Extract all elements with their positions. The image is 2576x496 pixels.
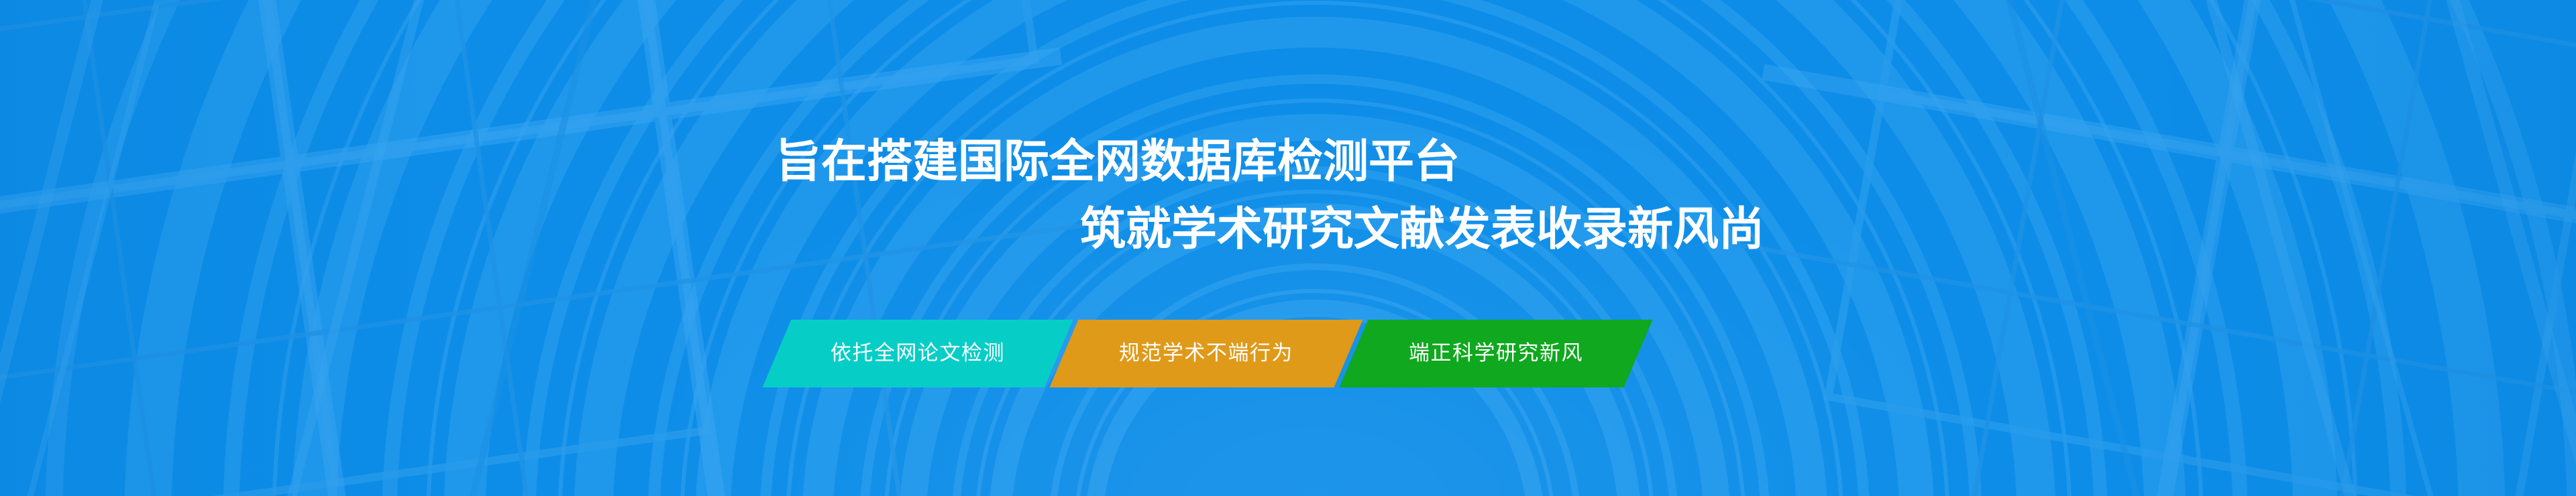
promo-banner: 旨在搭建国际全网数据库检测平台 筑就学术研究文献发表收录新风尚 依托全网论文检测… [0, 0, 2576, 496]
headline-line-1: 旨在搭建国际全网数据库检测平台 [775, 139, 1460, 186]
headline-block: 旨在搭建国际全网数据库检测平台 筑就学术研究文献发表收录新风尚 [0, 0, 2576, 496]
background-grid-left [0, 0, 2576, 496]
tag-paper-detection[interactable]: 依托全网论文检测 [763, 320, 1073, 387]
tag-misconduct-regulation[interactable]: 规范学术不端行为 [1050, 320, 1363, 387]
background-diagonal-streaks [0, 0, 2576, 496]
headline-line-2: 筑就学术研究文献发表收录新风尚 [1080, 206, 1764, 253]
background-vignette [0, 0, 2576, 496]
background-arc-rings [0, 0, 2576, 496]
background-grid-right [0, 0, 2576, 496]
feature-tag-row: 依托全网论文检测 规范学术不端行为 端正科学研究新风 [777, 320, 1638, 387]
tag-research-ethos[interactable]: 端正科学研究新风 [1340, 320, 1653, 387]
tag-misconduct-regulation-label: 规范学术不端行为 [1119, 343, 1293, 364]
tag-research-ethos-label: 端正科学研究新风 [1409, 343, 1583, 364]
tag-paper-detection-label: 依托全网论文检测 [830, 343, 1005, 364]
